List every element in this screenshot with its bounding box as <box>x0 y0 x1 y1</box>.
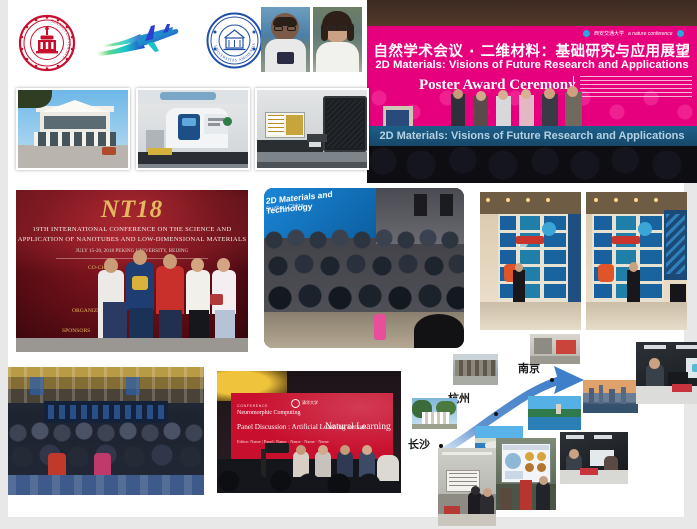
xiamen-university-red-seal-icon: XIAMEN UNIVERSITY <box>18 14 76 72</box>
nt18-sponsors-label: SPONSORS <box>62 328 90 334</box>
nt18-line3: JULY 15-20, 2018 PEKING UNIVERSITY, BEIJ… <box>16 248 248 254</box>
poster-award-ceremony-photo: 西安交通大学 a nature conference 自然学术会议 · 二维材料… <box>367 0 697 183</box>
hangzhou-campus-thumb <box>453 354 498 385</box>
xiamen-university-blue-seal-icon: UNIVERSITAS AMOIENSIS <box>206 12 263 69</box>
nt18-conference-group-photo: NT18 19TH INTERNATIONAL CONFERENCE ON TH… <box>16 190 248 352</box>
presentation-slide: XIAMEN UNIVERSITY <box>8 0 684 517</box>
nanjing-lab-thumb <box>530 334 580 364</box>
panel-screen-title-2: Natural Learning <box>325 421 391 432</box>
nt18-line1: 19TH INTERNATIONAL CONFERENCE ON THE SCI… <box>16 226 248 233</box>
classroom-demonstration-photo <box>438 448 496 526</box>
west-lake-thumb <box>528 396 581 430</box>
banner-title-cn: 自然学术会议 · 二维材料：基础研究与应用展望 <box>367 40 697 61</box>
office-room-thumb-1 <box>636 342 697 404</box>
panel-screen-brand: CONFERENCE <box>237 404 268 408</box>
banner-title-en: 2D Materials: Visions of Future Research… <box>367 59 697 71</box>
panel-screen-topic: Neuromorphic Computing <box>237 410 301 416</box>
nt18-logo: NT18 <box>16 196 248 224</box>
exhibition-wall-photo-right <box>586 192 687 330</box>
nanjing-skyline-thumb <box>583 380 638 413</box>
exhibition-wall-photo-left <box>480 192 581 330</box>
changsha-campus-thumb <box>412 398 457 429</box>
portrait-male-researcher <box>261 7 310 72</box>
city-dot-nanjing <box>550 378 554 382</box>
poster-screen-photo <box>496 438 556 510</box>
banner-sponsor-left: 西安交通大学 <box>594 30 624 37</box>
suzhou-2d-materials-group-photo: 2D Materials and Technology Suzhou,China <box>264 188 464 348</box>
city-dot-hangzhou <box>494 412 498 416</box>
banner-sponsor-right: a nature conference <box>628 31 672 37</box>
panel-discussion-photo: 清华大学 CONFERENCE Neuromorphic Computing P… <box>217 371 401 493</box>
nt18-line2: APPLICATION OF NANOTUBES AND LOW-DIMENSI… <box>16 236 248 243</box>
large-group-conference-photo <box>8 367 204 495</box>
svg-text:XIAMEN UNIVERSITY: XIAMEN UNIVERSITY <box>51 18 72 61</box>
lab-bench-photo <box>255 88 369 170</box>
portrait-female-researcher <box>313 7 362 72</box>
city-label-changsha: 长沙 <box>408 436 430 452</box>
office-room-thumb-2 <box>560 432 628 484</box>
airplane-graphic-icon <box>93 18 185 70</box>
campus-building-photo <box>16 88 130 170</box>
electron-microscope-photo <box>136 88 250 170</box>
